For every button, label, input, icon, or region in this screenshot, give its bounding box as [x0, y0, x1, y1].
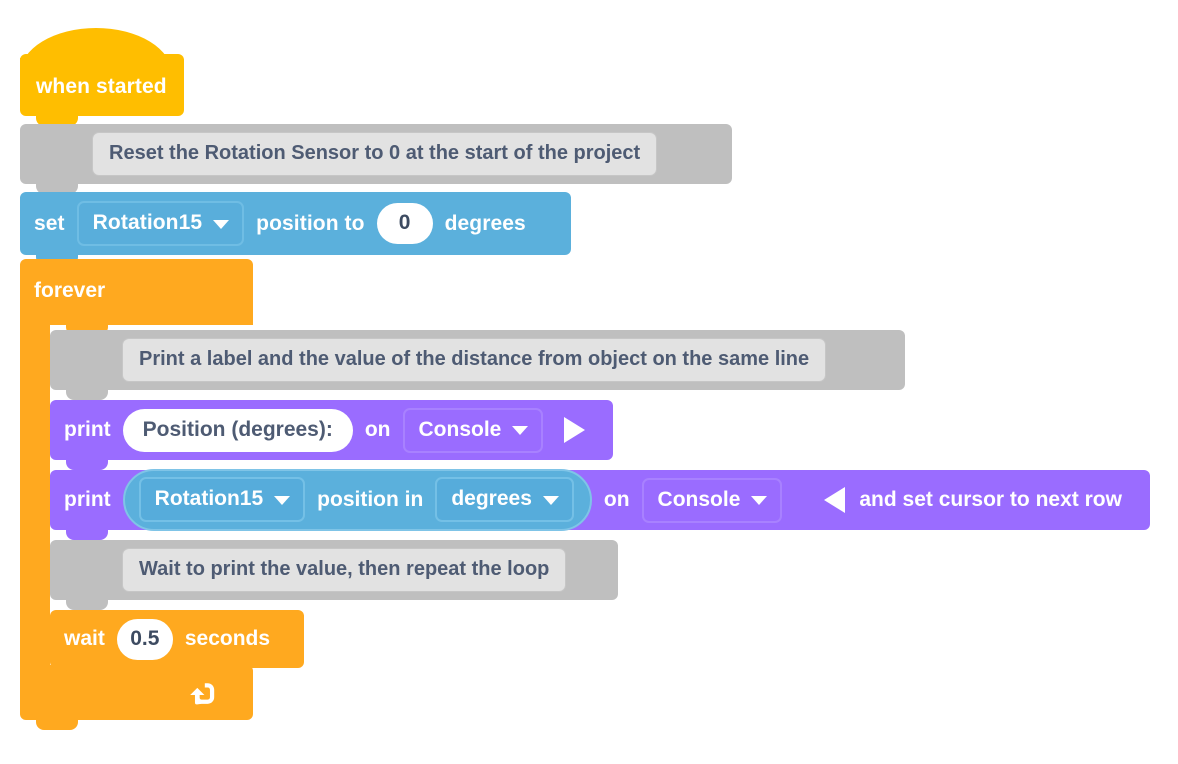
print-target-value: Console	[658, 488, 741, 512]
forever-label: forever	[34, 279, 105, 303]
comment-block-reset-sensor[interactable]: Reset the Rotation Sensor to 0 at the st…	[20, 124, 732, 184]
chevron-down-icon	[751, 496, 767, 505]
reporter-device-value: Rotation15	[155, 487, 264, 511]
set-unit-label: degrees	[445, 212, 526, 236]
set-verb-label: set	[34, 212, 65, 236]
set-device-value: Rotation15	[93, 211, 203, 235]
set-rotation-position-block[interactable]: set Rotation15 position to 0 degrees	[20, 192, 571, 255]
reporter-unit-dropdown[interactable]: degrees	[435, 477, 574, 522]
print-sensor-value-block[interactable]: print Rotation15 position in degrees on …	[50, 470, 1150, 530]
print-cursor-label: and set cursor to next row	[859, 488, 1122, 512]
print-block-bottom-bump	[66, 460, 108, 470]
cursor-same-line-icon[interactable]	[564, 417, 585, 443]
comment-block-print-label[interactable]: Print a label and the value of the dista…	[50, 330, 905, 390]
wait-block-bottom-bump	[66, 668, 108, 678]
reporter-device-dropdown[interactable]: Rotation15	[139, 477, 306, 522]
chevron-down-icon	[213, 220, 229, 229]
comment-bottom-bump	[66, 600, 108, 610]
chevron-down-icon	[543, 496, 559, 505]
comment-bottom-bump	[66, 390, 108, 400]
comment-text: Reset the Rotation Sensor to 0 at the st…	[92, 132, 657, 176]
comment-text: Print a label and the value of the dista…	[122, 338, 826, 382]
print-text-block[interactable]: print Position (degrees): on Console	[50, 400, 613, 460]
wait-value-input[interactable]: 0.5	[117, 619, 173, 660]
forever-left-spine	[20, 319, 50, 671]
chevron-down-icon	[274, 496, 290, 505]
reporter-unit-value: degrees	[451, 487, 532, 511]
when-started-hat-block[interactable]: when started	[20, 28, 184, 116]
print-target-value: Console	[419, 418, 502, 442]
when-started-label: when started	[36, 75, 167, 99]
blocks-workspace[interactable]: when started Reset the Rotation Sensor t…	[0, 0, 1178, 764]
set-value-input[interactable]: 0	[377, 203, 433, 244]
set-device-dropdown[interactable]: Rotation15	[77, 201, 245, 246]
print-on-label: on	[365, 418, 391, 442]
wait-block[interactable]: wait 0.5 seconds	[50, 610, 304, 668]
reporter-middle-label: position in	[317, 488, 423, 512]
comment-block-wait-loop[interactable]: Wait to print the value, then repeat the…	[50, 540, 618, 600]
loop-arrow-icon	[187, 679, 217, 709]
print-on-label: on	[604, 488, 630, 512]
wait-verb-label: wait	[64, 627, 105, 651]
print-block-bottom-bump	[66, 530, 108, 540]
print-verb-label: print	[64, 488, 111, 512]
forever-bottom-bump	[36, 720, 78, 730]
cursor-next-row-icon[interactable]	[824, 487, 845, 513]
comment-text: Wait to print the value, then repeat the…	[122, 548, 566, 592]
forever-bottom-arm	[20, 665, 253, 720]
wait-unit-label: seconds	[185, 627, 270, 651]
chevron-down-icon	[512, 426, 528, 435]
set-middle-label: position to	[256, 212, 364, 236]
rotation-position-reporter[interactable]: Rotation15 position in degrees	[123, 469, 592, 531]
print-text-input[interactable]: Position (degrees):	[123, 409, 353, 452]
print-target-dropdown[interactable]: Console	[403, 408, 544, 453]
print-target-dropdown[interactable]: Console	[642, 478, 783, 523]
print-verb-label: print	[64, 418, 111, 442]
